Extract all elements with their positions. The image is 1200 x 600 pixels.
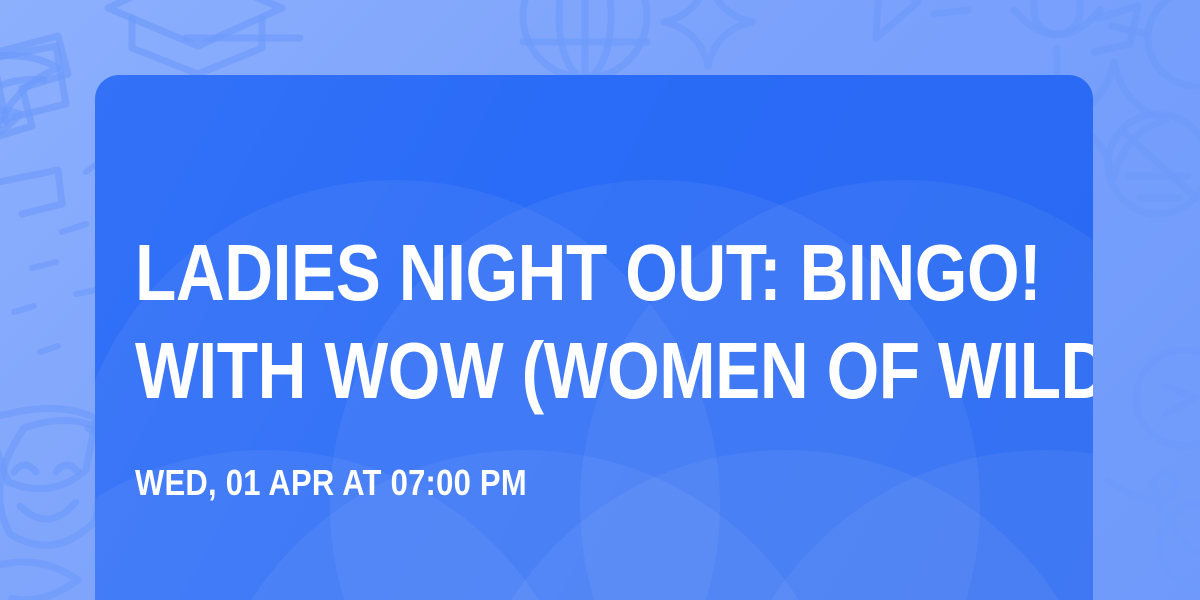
event-card[interactable]: Ladies Night Out: Bingo! With WOW (Women… <box>95 75 1093 600</box>
lantern-icon <box>1108 114 1200 214</box>
confetti-icon <box>14 306 58 352</box>
balloon-icon <box>1160 502 1200 590</box>
event-title-line-2: With WOW (Women of Wildwood) <box>135 331 1093 411</box>
card-content: Ladies Night Out: Bingo! With WOW (Women… <box>135 75 1093 600</box>
theater-masks-icon <box>0 408 105 545</box>
ribbon-icon <box>0 55 58 140</box>
microphone-icon <box>1014 0 1100 78</box>
balloon-icon <box>1148 0 1200 86</box>
event-date-time: Wed, 01 Apr at 07:00 PM <box>135 463 527 503</box>
sparkle-icon <box>664 0 752 66</box>
ticket-icon <box>0 46 66 128</box>
party-popper-icon <box>876 0 968 38</box>
streamer-icon <box>0 562 78 600</box>
ticket-icon <box>0 36 68 214</box>
event-banner: Ladies Night Out: Bingo! With WOW (Women… <box>0 0 1200 600</box>
event-title-line-1: Ladies Night Out: Bingo! <box>135 233 1041 313</box>
globe-icon <box>523 0 647 78</box>
streamer-icon <box>1094 6 1146 52</box>
party-popper-icon <box>1136 350 1200 446</box>
streamer-icon <box>1108 474 1200 556</box>
graduation-cap-icon <box>108 0 300 74</box>
confetti-icon <box>32 160 102 294</box>
